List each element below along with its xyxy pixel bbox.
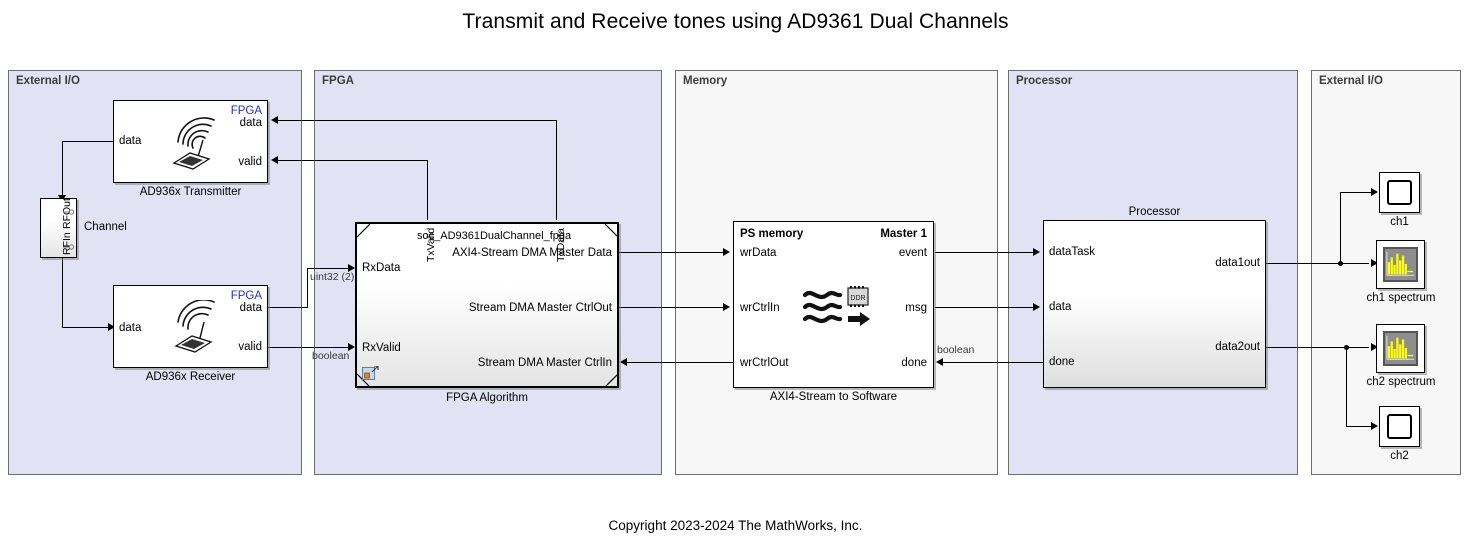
wire-channel-to-rx-v xyxy=(62,258,63,327)
arrow-processor-data-in xyxy=(1033,303,1040,311)
region-label-external-io-left: External I/O xyxy=(16,75,80,87)
port-label-event: event xyxy=(899,247,927,259)
wire-channel-to-rx-h xyxy=(62,327,112,328)
block-spectrum-ch1[interactable] xyxy=(1376,240,1425,289)
subsystem-link-icon xyxy=(362,366,379,381)
port-label-axi4-dma-master-data: AXI4-Stream DMA Master Data xyxy=(452,247,612,259)
wire-data2out-down xyxy=(1346,347,1347,426)
simulink-canvas: Transmit and Receive tones using AD9361 … xyxy=(0,0,1471,550)
scope-screen-icon xyxy=(1387,180,1412,205)
block-processor[interactable]: dataTask data done data1out data2out xyxy=(1043,220,1266,388)
block-ad936x-transmitter[interactable]: FPGA data data valid xyxy=(113,100,268,183)
wire-txvalid-h xyxy=(278,160,427,161)
axi4-header-left: PS memory xyxy=(740,228,803,240)
arrow-datatask-in xyxy=(1033,248,1040,256)
caption-channel: Channel xyxy=(84,221,127,233)
arrow-fpga-ctrlin-in xyxy=(620,358,627,366)
port-label-processor-done: done xyxy=(1049,356,1075,368)
wire-dma-ctrlin xyxy=(627,362,734,363)
block-scope-ch2[interactable] xyxy=(1379,406,1420,447)
region-label-external-io-right: External I/O xyxy=(1319,75,1383,87)
wire-msg-to-data xyxy=(935,307,1036,308)
port-label-rx-data-out: data xyxy=(240,302,262,314)
port-label-tx-valid-out: valid xyxy=(238,156,262,168)
block-channel[interactable]: RFIn RFOut xyxy=(40,198,77,258)
region-label-fpga: FPGA xyxy=(322,75,354,87)
port-label-wrctrlin: wrCtrlIn xyxy=(740,302,780,314)
copyright-notice: Copyright 2023-2024 The MathWorks, Inc. xyxy=(0,518,1471,533)
port-label-processor-data: data xyxy=(1049,301,1071,313)
wire-rx-valid-h xyxy=(267,347,351,348)
port-label-wrdata: wrData xyxy=(740,247,776,259)
wire-rx-data-v xyxy=(307,268,308,308)
port-label-rxvalid: RxValid xyxy=(362,342,401,354)
caption-ch1: ch1 xyxy=(1379,216,1420,228)
wire-txdata-h xyxy=(278,120,556,121)
block-spectrum-ch2[interactable] xyxy=(1376,324,1425,373)
arrow-tx-valid-in xyxy=(271,156,278,164)
arrow-wrctrlin-in xyxy=(723,303,730,311)
port-label-rx-valid-out: valid xyxy=(238,341,262,353)
caption-ch1-spectrum: ch1 spectrum xyxy=(1356,292,1446,304)
arrow-tx-data-in xyxy=(271,116,278,124)
caption-ad936x-receiver: AD936x Receiver xyxy=(113,371,268,383)
arrow-memory-done-in xyxy=(936,358,943,366)
wire-data1out-h xyxy=(1266,263,1369,264)
fpga-algorithm-title: soc_AD9361DualChannel_fpga xyxy=(417,230,571,242)
wire-event-to-datatask xyxy=(935,252,1036,253)
spectrum-bars-icon-2 xyxy=(1385,333,1416,364)
port-label-txvalid: TxValid xyxy=(425,228,437,262)
wire-rx-data-h2 xyxy=(307,268,351,269)
channel-port-stubs-icon xyxy=(63,207,75,253)
region-label-memory: Memory xyxy=(683,75,727,87)
fpga-tag-receiver: FPGA xyxy=(231,290,262,302)
signal-label-rxdata-type: uint32 (2) xyxy=(310,271,354,283)
wire-tx-to-channel-v xyxy=(62,141,63,196)
antenna-transmit-icon xyxy=(164,115,226,173)
port-label-tx-data-out: data xyxy=(240,117,262,129)
port-label-dma-master-ctrlin: Stream DMA Master CtrlIn xyxy=(478,357,612,369)
block-scope-ch1[interactable] xyxy=(1379,172,1420,213)
wire-data2out-h xyxy=(1266,347,1369,348)
port-label-msg: msg xyxy=(905,302,927,314)
wire-txdata-v xyxy=(556,120,557,220)
ddr-stream-icon: DDR xyxy=(802,286,870,330)
page-title: Transmit and Receive tones using AD9361 … xyxy=(0,10,1471,34)
port-label-datatask: dataTask xyxy=(1049,246,1095,258)
axi4-header-right: Master 1 xyxy=(880,228,927,240)
port-label-data1out: data1out xyxy=(1215,257,1260,269)
port-label-rx-data-in: data xyxy=(119,322,141,334)
wire-dma-data xyxy=(619,252,726,253)
port-label-rxdata: RxData xyxy=(362,262,400,274)
port-label-wrctrlout: wrCtrlOut xyxy=(740,357,789,369)
port-label-dma-master-ctrlout: Stream DMA Master CtrlOut xyxy=(469,302,612,314)
ddr-chip-label: DDR xyxy=(850,295,865,302)
wire-rx-data-h1 xyxy=(267,307,307,308)
caption-processor: Processor xyxy=(1043,206,1266,218)
arrow-ch1-in xyxy=(1371,188,1378,196)
scope-screen-icon-2 xyxy=(1387,414,1412,439)
wire-data1out-up xyxy=(1340,192,1341,263)
wire-done-to-memory xyxy=(943,362,1044,363)
caption-fpga-algorithm: FPGA Algorithm xyxy=(355,392,619,404)
spectrum-bars-icon xyxy=(1385,249,1416,280)
caption-ch2: ch2 xyxy=(1379,450,1420,462)
fpga-tag-transmitter: FPGA xyxy=(231,105,262,117)
spectrum-screen-icon-2 xyxy=(1383,331,1418,366)
caption-axi4-stream-to-software: AXI4-Stream to Software xyxy=(733,391,934,403)
wire-tx-data-out xyxy=(62,141,114,142)
arrow-wrdata-in xyxy=(723,248,730,256)
region-label-processor: Processor xyxy=(1016,75,1072,87)
wire-dma-ctrlout xyxy=(619,307,726,308)
block-ad936x-receiver[interactable]: FPGA data data valid xyxy=(113,285,268,368)
signal-label-rxvalid-type: boolean xyxy=(312,350,349,362)
arrow-ch2-in xyxy=(1371,422,1378,430)
port-label-data2out: data2out xyxy=(1215,341,1260,353)
antenna-receive-icon xyxy=(166,300,228,358)
block-axi4-stream-to-software[interactable]: PS memory Master 1 wrData wrCtrlIn wrCtr… xyxy=(733,221,934,388)
wire-txvalid-v xyxy=(427,160,428,220)
block-fpga-algorithm[interactable]: soc_AD9361DualChannel_fpga TxValid TxDat… xyxy=(355,222,619,388)
port-label-done: done xyxy=(901,357,927,369)
caption-ch2-spectrum: ch2 spectrum xyxy=(1356,376,1446,388)
caption-ad936x-transmitter: AD936x Transmitter xyxy=(113,186,268,198)
signal-label-done-type: boolean xyxy=(937,344,974,356)
spectrum-screen-icon xyxy=(1383,247,1418,282)
port-label-tx-data-in: data xyxy=(119,135,141,147)
